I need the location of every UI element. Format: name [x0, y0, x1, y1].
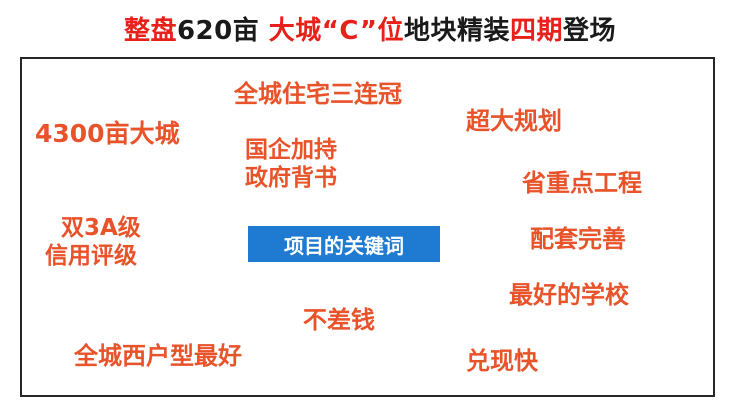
keyword-line: 政府背书	[245, 164, 337, 192]
page-title: 整盘620亩 大城“C”位地块精装四期登场	[0, 14, 740, 48]
keyword-mega-plan: 超大规划	[466, 107, 562, 136]
center-highlight-box[interactable]: 项目的关键词	[248, 226, 440, 262]
keyword-board: 全城住宅三连冠 超大规划 4300亩大城 国企加持 政府背书 省重点工程 双3A…	[20, 57, 715, 397]
title-segment-2: 大城“C”位	[259, 16, 404, 46]
keyword-line: 全城西户型最好	[74, 342, 242, 371]
center-box-label: 项目的关键词	[284, 230, 404, 259]
keyword-facilities: 配套完善	[530, 225, 626, 254]
keyword-line: 全城住宅三连冠	[234, 80, 402, 109]
keyword-best-west-unit: 全城西户型最好	[74, 342, 242, 371]
keyword-line: 超大规划	[466, 107, 562, 136]
title-segment-4: 四期	[510, 16, 563, 46]
title-segment-3: 地块精装	[404, 16, 510, 46]
keyword-total-area: 4300亩大城	[35, 119, 180, 150]
keyword-line: 最好的学校	[509, 281, 629, 310]
keyword-credit-rating: 双3A级 信用评级	[45, 214, 141, 270]
keyword-line: 配套完善	[530, 225, 626, 254]
keyword-provincial-project: 省重点工程	[522, 169, 642, 198]
keyword-line: 国企加持	[245, 136, 337, 164]
title-segment-1: 620亩	[177, 16, 259, 46]
keyword-state-backing: 国企加持 政府背书	[245, 136, 337, 192]
keyword-line: 兑现快	[466, 347, 538, 376]
keyword-city-triple-champion: 全城住宅三连冠	[234, 80, 402, 109]
title-segment-0: 整盘	[124, 16, 177, 46]
slide-canvas: 整盘620亩 大城“C”位地块精装四期登场 全城住宅三连冠 超大规划 4300亩…	[0, 0, 740, 416]
keyword-line: 信用评级	[45, 242, 141, 270]
keyword-no-money-worry: 不差钱	[303, 306, 375, 335]
title-segment-5: 登场	[563, 16, 616, 46]
keyword-fast-delivery: 兑现快	[466, 347, 538, 376]
keyword-line: 4300亩大城	[35, 119, 180, 150]
keyword-best-school: 最好的学校	[509, 281, 629, 310]
keyword-line: 双3A级	[45, 214, 141, 242]
keyword-line: 省重点工程	[522, 169, 642, 198]
keyword-line: 不差钱	[303, 306, 375, 335]
